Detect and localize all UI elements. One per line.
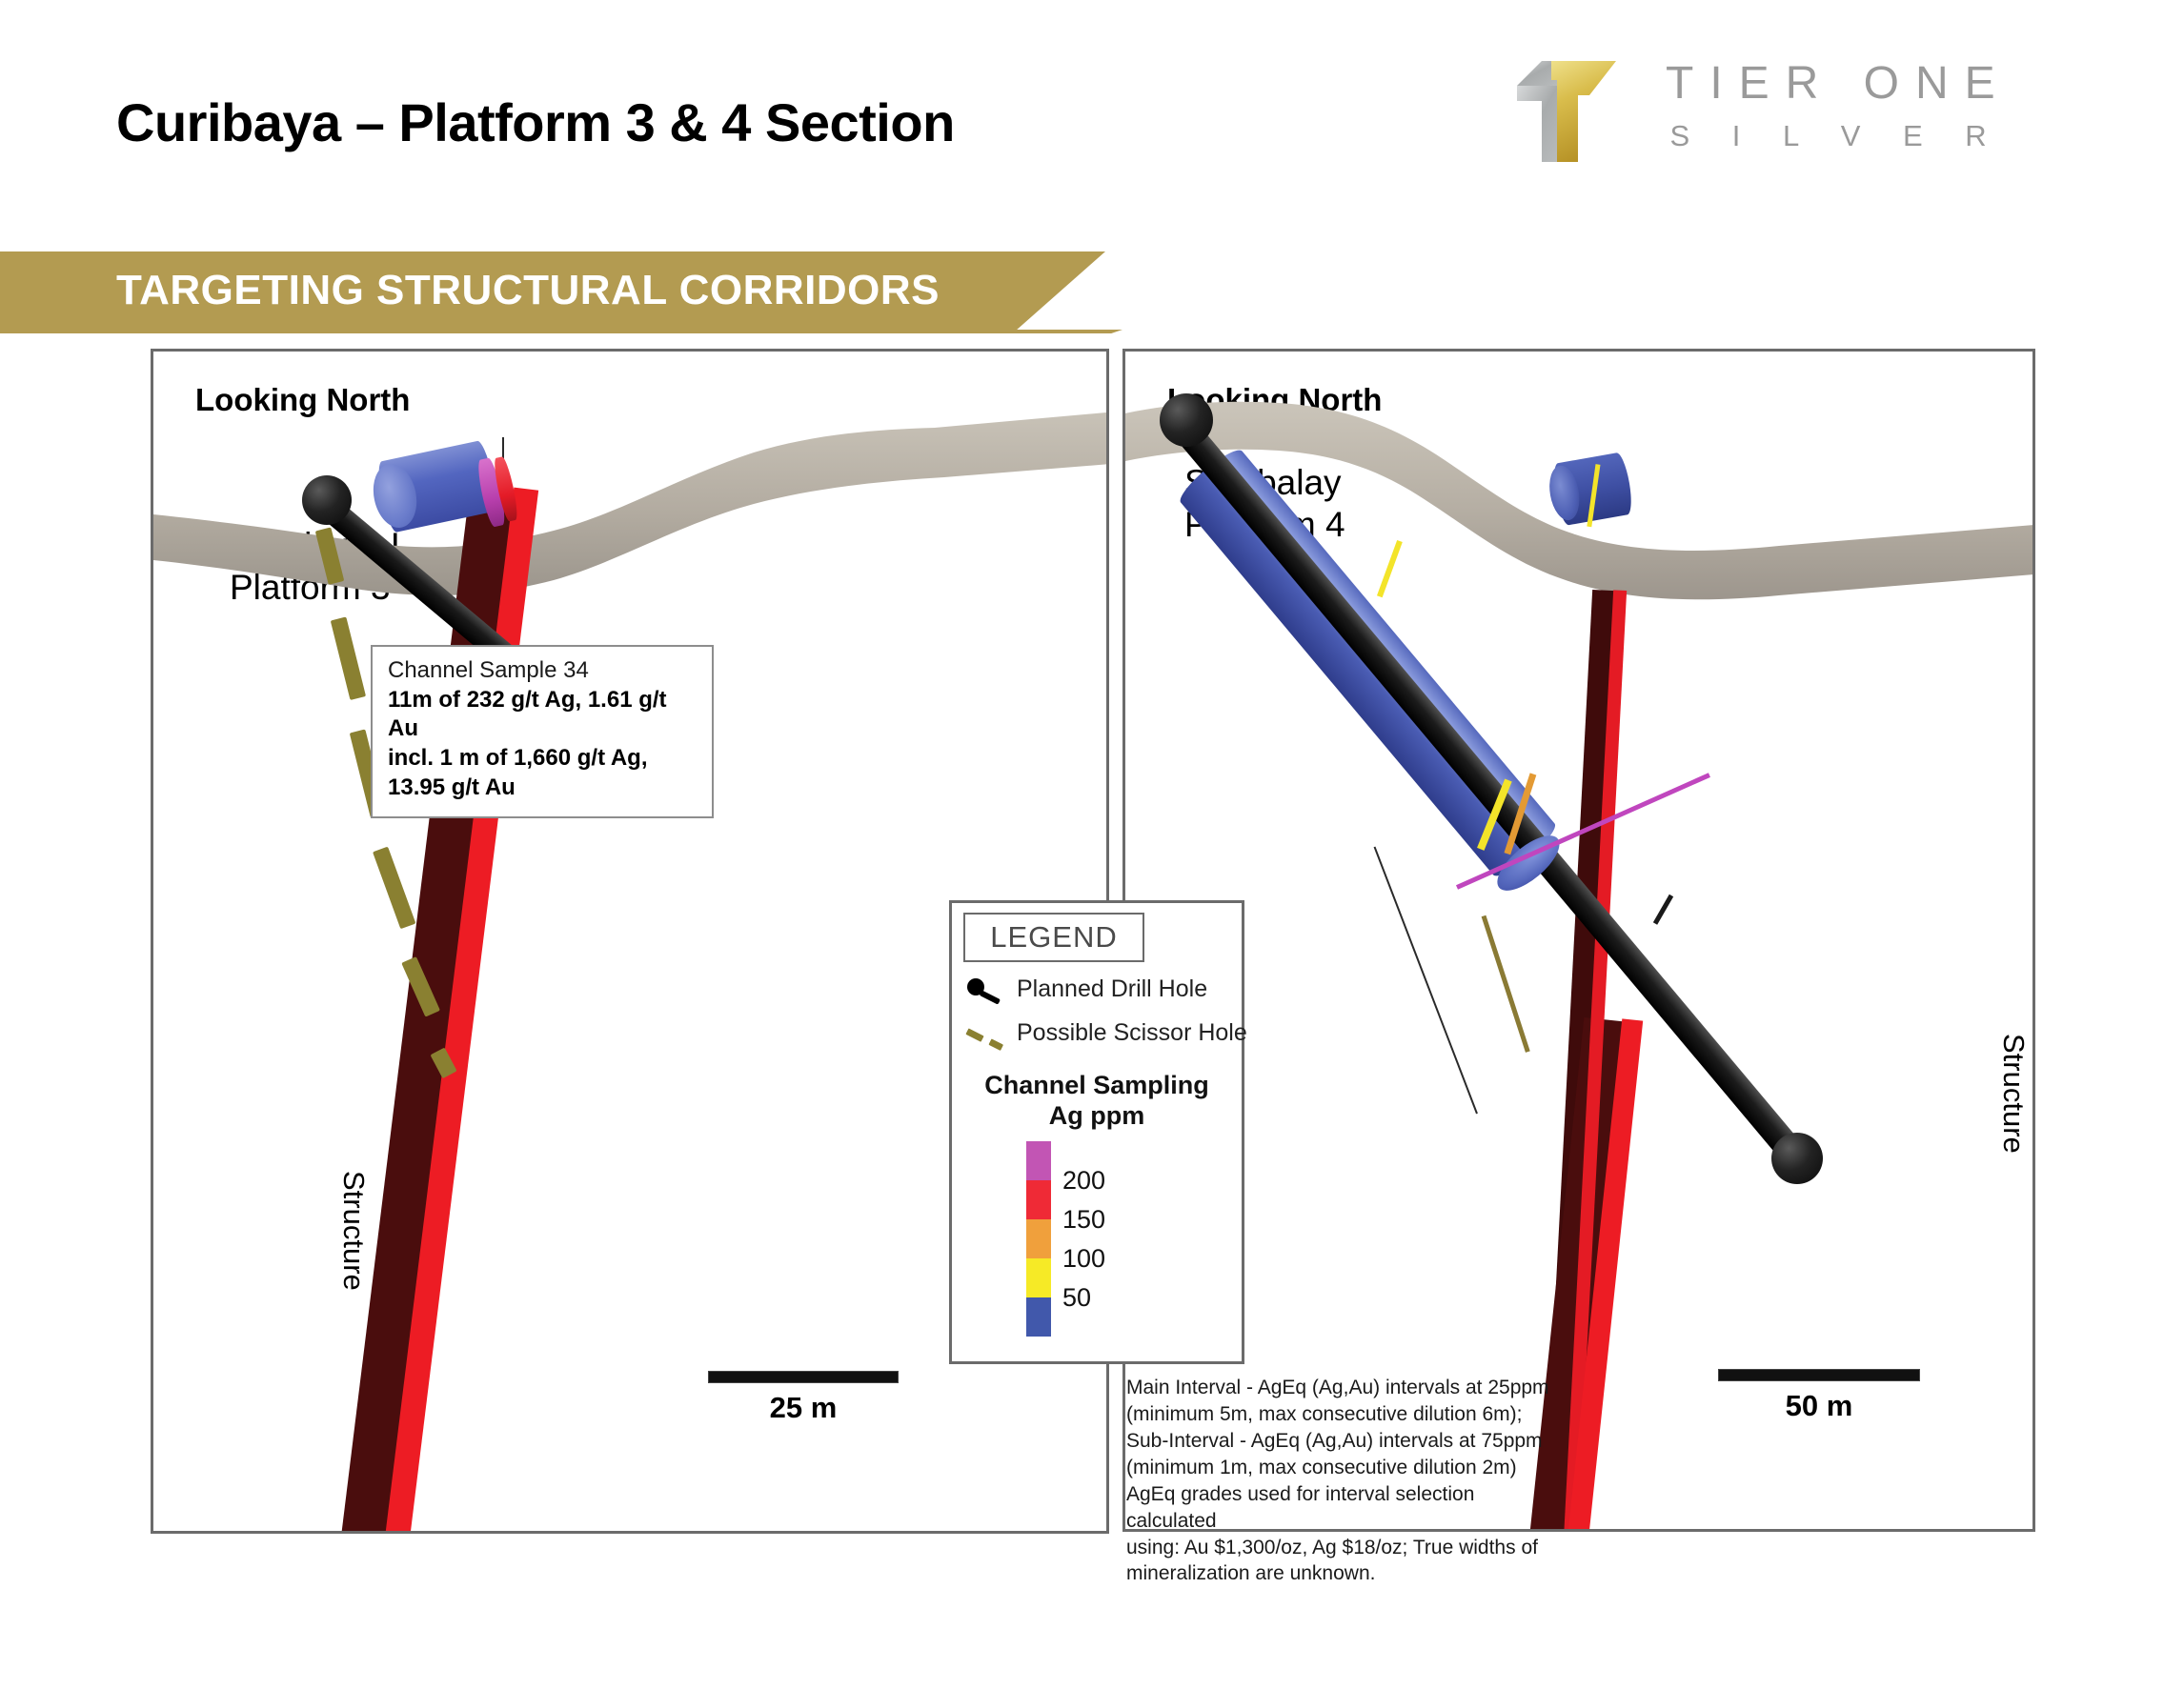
legend-item-planned-drill-hole: Planned Drill Hole	[965, 975, 1207, 1003]
ramp-tick-100: 100	[1062, 1244, 1105, 1274]
drill-collar-right	[1160, 393, 1213, 447]
section-panel-right: Looking North Sambalay Platform 4 Struct…	[1122, 349, 2035, 1532]
drill-hole-end-right	[1771, 1133, 1823, 1184]
legend-ramp-title-line1: Channel Sampling	[952, 1071, 1242, 1101]
legend-box: LEGEND Planned Drill Hole Possible Sciss…	[949, 900, 1244, 1364]
section-banner-label: TARGETING STRUCTURAL CORRIDORS	[116, 267, 940, 314]
ramp-tick-200: 200	[1062, 1166, 1105, 1196]
logo-subwordmark: S I L V E R	[1666, 119, 2012, 153]
structure-label-right: Structure	[1996, 1034, 2031, 1154]
scale-bar-label: 25 m	[708, 1391, 899, 1425]
ramp-tick-150: 150	[1062, 1205, 1105, 1235]
legend-ramp-title: Channel Sampling Ag ppm	[952, 1071, 1242, 1132]
legend-ramp-title-line2: Ag ppm	[952, 1101, 1242, 1132]
footnote-line: using: Au $1,300/oz, Ag $18/oz; True wid…	[1126, 1535, 1555, 1561]
ramp-tick-50: 50	[1062, 1283, 1091, 1313]
possible-scissor-hole-icon	[965, 1020, 1009, 1047]
scale-bar-line	[1718, 1369, 1920, 1381]
callout-left: Channel Sample 34 11m of 232 g/t Ag, 1.6…	[371, 645, 714, 818]
planned-drill-hole-icon	[965, 976, 1009, 1003]
page-title: Curibaya – Platform 3 & 4 Section	[116, 91, 955, 153]
color-ramp	[1026, 1141, 1051, 1337]
ramp-segment-0-50	[1026, 1297, 1051, 1337]
scissor-tick-right	[1653, 895, 1673, 925]
callout-left-line3: incl. 1 m of 1,660 g/t Ag, 13.95 g/t Au	[388, 744, 697, 802]
section-banner: TARGETING STRUCTURAL CORRIDORS	[0, 251, 1105, 330]
scale-bar-line	[708, 1371, 899, 1383]
footnote-line: AgEq grades used for interval selection …	[1126, 1481, 1555, 1535]
legend-title-box: LEGEND	[963, 913, 1144, 962]
banner-underline	[0, 330, 1122, 333]
footnote-line: Main Interval - AgEq (Ag,Au) intervals a…	[1126, 1375, 1555, 1401]
footnote-line: (minimum 1m, max consecutive dilution 2m…	[1126, 1455, 1555, 1481]
drill-collar-left	[302, 475, 352, 525]
callout-left-line2: 11m of 232 g/t Ag, 1.61 g/t Au	[388, 686, 697, 744]
ramp-segment-200plus	[1026, 1141, 1051, 1180]
callout-left-title: Channel Sample 34	[388, 656, 697, 686]
legend-title: LEGEND	[990, 920, 1117, 955]
structure-label-left: Structure	[336, 1171, 371, 1291]
scale-bar-left: 25 m	[708, 1371, 899, 1425]
color-ramp-labels: 200 150 100 50	[1062, 1141, 1148, 1337]
ramp-segment-100-150	[1026, 1219, 1051, 1258]
legend-item-label: Planned Drill Hole	[1017, 975, 1207, 1003]
legend-item-label: Possible Scissor Hole	[1017, 1019, 1247, 1047]
ramp-segment-50-100	[1026, 1258, 1051, 1297]
legend-item-possible-scissor-hole: Possible Scissor Hole	[965, 1019, 1247, 1047]
footnote-block: Main Interval - AgEq (Ag,Au) intervals a…	[1126, 1375, 1555, 1587]
tier-one-logo-icon	[1513, 48, 1637, 162]
footnote-line: (minimum 5m, max consecutive dilution 6m…	[1126, 1401, 1555, 1428]
logo-wordmark: TIER ONE	[1666, 57, 2012, 110]
brand-logo: TIER ONE S I L V E R	[1513, 46, 2123, 170]
scissor-hole-dash	[373, 847, 415, 930]
footnote-line: mineralization are unknown.	[1126, 1560, 1555, 1587]
ramp-segment-150-200	[1026, 1180, 1051, 1219]
footnote-line: Sub-Interval - AgEq (Ag,Au) intervals at…	[1126, 1428, 1555, 1455]
vein-trace-olive	[1482, 915, 1530, 1053]
scale-bar-label: 50 m	[1718, 1389, 1920, 1423]
scale-bar-right: 50 m	[1718, 1369, 1920, 1423]
